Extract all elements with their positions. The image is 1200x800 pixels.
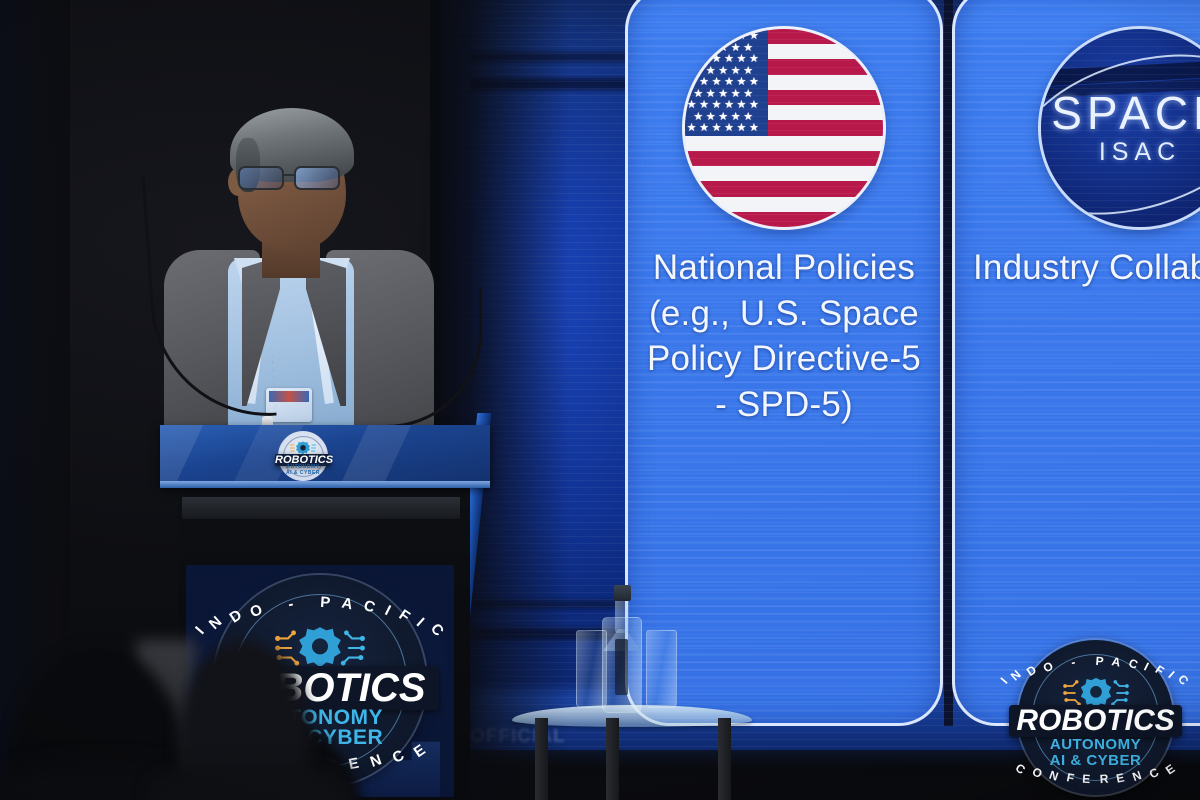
side-table-leg xyxy=(718,718,731,800)
logo-name: ROBOTICS xyxy=(1009,705,1183,737)
logo-arc-top: INDO - PACIFIC xyxy=(1018,654,1173,668)
card-text: Industry Collaboration (Space-ISAC) xyxy=(955,245,1200,291)
side-table-leg xyxy=(535,718,548,800)
logo-arc-bottom: CONFERENCE xyxy=(1018,772,1173,786)
drinking-glass xyxy=(646,630,677,708)
logo-subline-2: AI & CYBER xyxy=(278,470,328,476)
water-bottle xyxy=(602,585,642,713)
conference-logo-corner: INDO - PACIFIC R xyxy=(1018,640,1173,795)
conference-logo-podium-top: ROBOTICS AUTONOMY AI & CYBER xyxy=(278,431,328,481)
us-flag-circle-icon: ★★★★★★★★★★★★★★★★★★★★★★★★★★★★★★★★★★★★★★★★… xyxy=(685,29,883,227)
card-text: National Policies (e.g., U.S. Space Poli… xyxy=(628,245,940,427)
podium-shelf xyxy=(182,497,460,519)
bottle-label xyxy=(615,639,628,695)
isac-subtext: ISAC xyxy=(1041,138,1200,167)
conference-photo-scene: OFFICIAL ★★★★★★★★★★★★★★★★★★★★★★★★★★★★★★★… xyxy=(0,0,1200,800)
podium-top-panel: ROBOTICS AUTONOMY AI & CYBER xyxy=(160,425,490,487)
podium-top-edge xyxy=(160,481,490,488)
speaker-figure xyxy=(150,100,450,460)
bottle-cap xyxy=(614,585,631,601)
side-table-leg xyxy=(606,718,619,800)
space-isac-logo-icon: SPACE ISAC xyxy=(1041,29,1200,227)
slide-card-national-policies: ★★★★★★★★★★★★★★★★★★★★★★★★★★★★★★★★★★★★★★★★… xyxy=(625,0,943,726)
logo-arc-top: INDO - PACIFIC xyxy=(214,594,426,611)
isac-wordmark: SPACE xyxy=(1041,86,1200,140)
slide-card-industry-collaboration: SPACE ISAC Industry Collaboration (Space… xyxy=(952,0,1200,726)
microphone-gooseneck xyxy=(141,166,276,424)
logo-subline-1: AUTONOMY xyxy=(1018,736,1173,753)
